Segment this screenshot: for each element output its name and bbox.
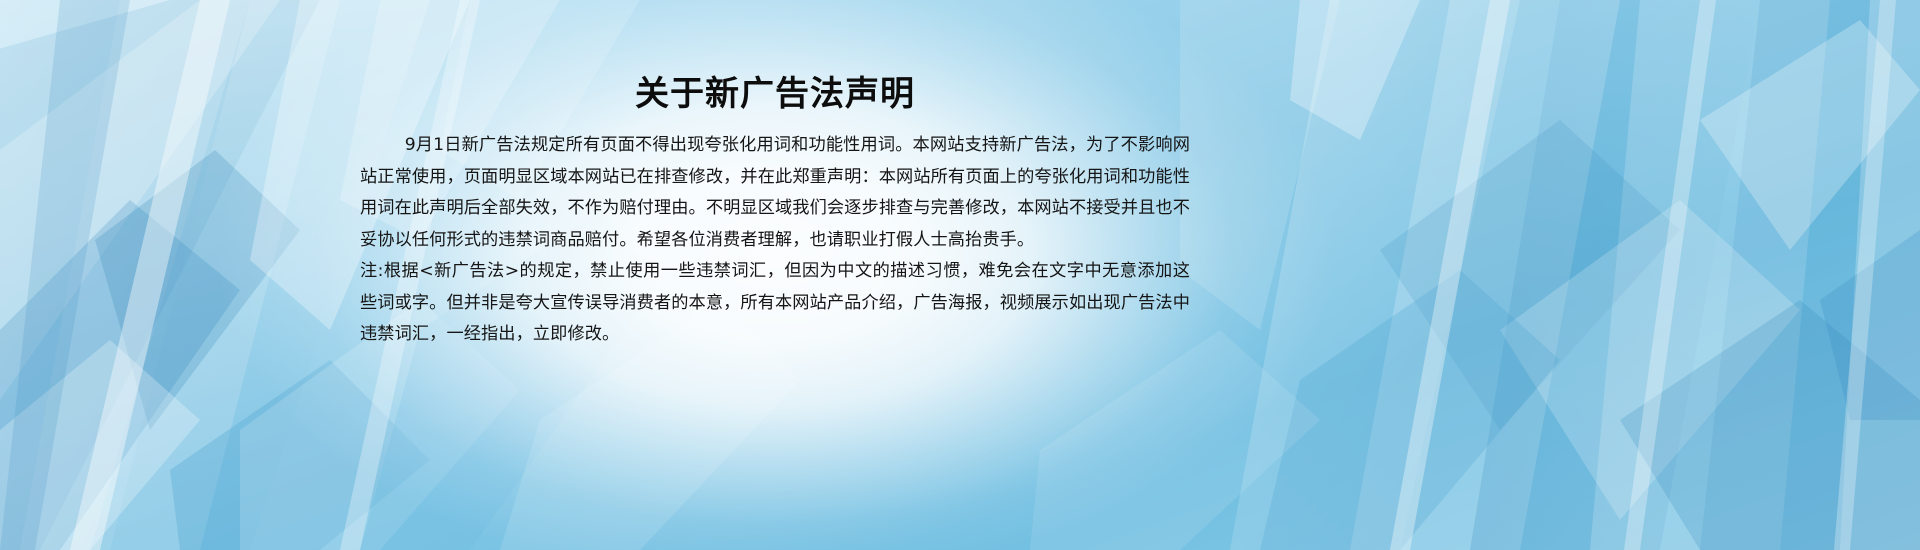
banner-canvas: 关于新广告法声明 9月1日新广告法规定所有页面不得出现夸张化用词和功能性用词。本… — [0, 0, 1920, 550]
note-paragraph: 注:根据<新广告法>的规定，禁止使用一些违禁词汇，但因为中文的描述习惯，难免会在… — [360, 256, 1190, 351]
statement-paragraph: 9月1日新广告法规定所有页面不得出现夸张化用词和功能性用词。本网站支持新广告法，… — [360, 130, 1190, 256]
page-title: 关于新广告法声明 — [360, 72, 1190, 116]
statement-content: 关于新广告法声明 9月1日新广告法规定所有页面不得出现夸张化用词和功能性用词。本… — [360, 72, 1190, 351]
